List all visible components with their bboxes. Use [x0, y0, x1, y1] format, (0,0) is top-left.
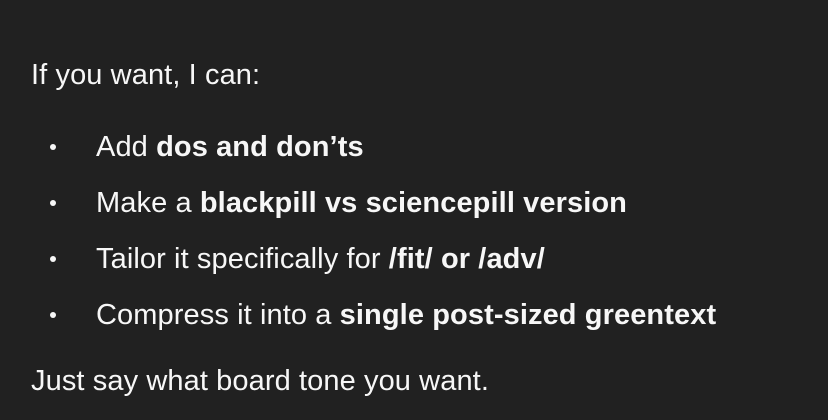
list-item: Compress it into a single post-sized gre…	[0, 287, 828, 343]
suggestion-list: Add dos and don’ts Make a blackpill vs s…	[0, 119, 828, 343]
list-item-emphasis: blackpill vs sciencepill version	[200, 187, 627, 219]
bullet-dot-icon	[50, 200, 56, 206]
list-item-text: Tailor it specifically for /fit/ or /adv…	[96, 242, 545, 276]
bullet-dot-icon	[50, 144, 56, 150]
list-item-emphasis: dos and don’ts	[156, 131, 364, 163]
list-item-text: Compress it into a single post-sized gre…	[96, 298, 716, 332]
list-item: Make a blackpill vs sciencepill version	[0, 175, 828, 231]
bullet-dot-icon	[50, 312, 56, 318]
list-item-text: Make a blackpill vs sciencepill version	[96, 186, 627, 220]
message-panel: If you want, I can: Add dos and don’ts M…	[0, 0, 828, 420]
intro-line: If you want, I can:	[31, 56, 260, 94]
list-item: Add dos and don’ts	[0, 119, 828, 175]
list-item: Tailor it specifically for /fit/ or /adv…	[0, 231, 828, 287]
list-item-text: Add dos and don’ts	[96, 130, 364, 164]
list-item-emphasis: /fit/ or /adv/	[389, 243, 545, 275]
list-item-lead: Tailor it specifically for	[96, 243, 389, 275]
list-item-lead: Make a	[96, 187, 200, 219]
list-item-emphasis: single post-sized greentext	[340, 299, 717, 331]
list-item-lead: Compress it into a	[96, 299, 340, 331]
bullet-dot-icon	[50, 256, 56, 262]
outro-line: Just say what board tone you want.	[31, 362, 489, 400]
list-item-lead: Add	[96, 131, 156, 163]
